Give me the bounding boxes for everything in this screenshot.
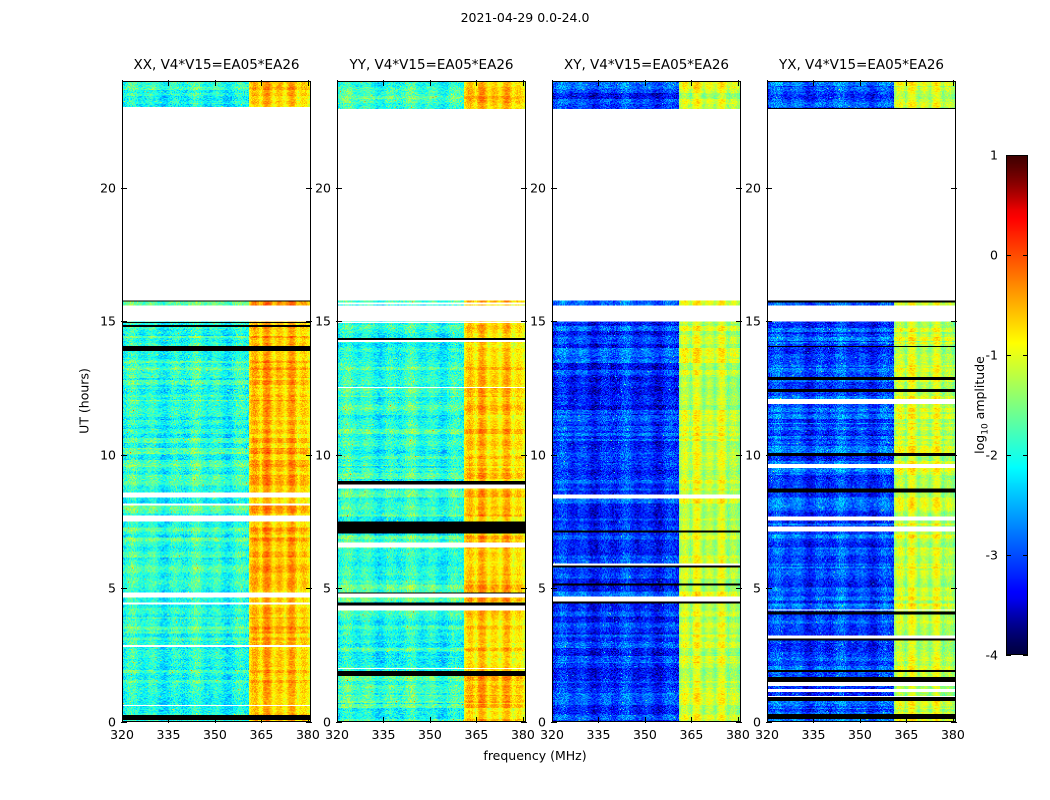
y-tick-mark: [551, 188, 557, 189]
colorbar-tick-label: 1: [990, 148, 998, 163]
x-tick-mark: [215, 717, 216, 723]
colorbar-tick-mark: [1006, 255, 1011, 256]
x-tick-mark-top: [598, 80, 599, 86]
colorbar-tick-mark-right: [1023, 555, 1028, 556]
plot-area-yx[interactable]: [767, 81, 956, 722]
x-tick-label: 365: [464, 727, 488, 742]
x-tick-mark: [738, 717, 739, 723]
x-tick-mark: [691, 717, 692, 723]
y-tick-mark-right: [306, 321, 312, 322]
x-tick-mark-top: [476, 80, 477, 86]
x-tick-label: 335: [372, 727, 396, 742]
x-tick-mark: [308, 717, 309, 723]
y-tick-mark-right: [306, 188, 312, 189]
y-tick-label: 10: [315, 447, 331, 462]
x-tick-label: 320: [755, 727, 779, 742]
x-tick-label: 380: [511, 727, 535, 742]
y-tick-label: 10: [745, 447, 761, 462]
x-tick-mark: [813, 717, 814, 723]
y-tick-mark: [336, 588, 342, 589]
y-tick-mark-right: [521, 188, 527, 189]
y-tick-mark: [766, 588, 772, 589]
panel-xy: XY, V4*V15=EA05*EA2605101520320335350365…: [552, 81, 741, 722]
colorbar-tick-mark: [1006, 555, 1011, 556]
y-tick-label: 15: [315, 314, 331, 329]
colorbar-tick-mark-right: [1023, 355, 1028, 356]
y-tick-mark-right: [736, 455, 742, 456]
y-tick-mark-right: [521, 588, 527, 589]
colorbar-label-tail: amplitude: [972, 356, 987, 423]
x-tick-mark-top: [906, 80, 907, 86]
x-tick-label: 320: [325, 727, 349, 742]
y-tick-mark: [121, 588, 127, 589]
x-tick-label: 365: [679, 727, 703, 742]
y-tick-mark-right: [736, 588, 742, 589]
y-tick-mark: [121, 455, 127, 456]
x-tick-label: 350: [848, 727, 872, 742]
x-tick-mark-top: [383, 80, 384, 86]
x-tick-label: 380: [296, 727, 320, 742]
y-tick-mark-right: [306, 455, 312, 456]
y-tick-label: 15: [530, 314, 546, 329]
x-tick-label: 380: [726, 727, 750, 742]
x-tick-mark-top: [337, 80, 338, 86]
heatmap-yy: [338, 82, 525, 721]
y-tick-mark-right: [951, 188, 957, 189]
x-tick-mark-top: [168, 80, 169, 86]
plot-area-xy[interactable]: [552, 81, 741, 722]
x-tick-mark: [122, 717, 123, 723]
y-tick-mark-right: [951, 321, 957, 322]
x-tick-label: 380: [941, 727, 965, 742]
y-tick-label: 15: [745, 314, 761, 329]
panel-title-yx: YX, V4*V15=EA05*EA26: [727, 57, 996, 73]
colorbar-tick-mark-right: [1023, 155, 1028, 156]
y-tick-mark: [551, 455, 557, 456]
x-tick-label: 320: [110, 727, 134, 742]
x-tick-mark: [598, 717, 599, 723]
y-tick-mark: [336, 188, 342, 189]
y-tick-label: 20: [315, 180, 331, 195]
x-tick-mark: [523, 717, 524, 723]
colorbar-tick-mark: [1006, 455, 1011, 456]
y-tick-mark-right: [306, 588, 312, 589]
colorbar-label-main: log: [972, 435, 987, 454]
x-tick-label: 335: [587, 727, 611, 742]
colorbar-label-sub: 10: [980, 423, 990, 434]
colorbar[interactable]: [1006, 155, 1028, 655]
x-tick-mark-top: [552, 80, 553, 86]
y-tick-mark: [336, 455, 342, 456]
y-axis-label: UT (hours): [77, 368, 92, 434]
y-tick-label: 20: [100, 180, 116, 195]
x-tick-label: 320: [540, 727, 564, 742]
y-tick-mark-right: [736, 722, 742, 723]
x-tick-mark: [430, 717, 431, 723]
x-tick-mark-top: [691, 80, 692, 86]
y-tick-mark-right: [951, 455, 957, 456]
y-tick-mark: [121, 188, 127, 189]
colorbar-label: log10 amplitude: [972, 356, 991, 454]
x-tick-mark: [383, 717, 384, 723]
y-tick-label: 10: [530, 447, 546, 462]
y-tick-label: 10: [100, 447, 116, 462]
y-tick-label: 20: [745, 180, 761, 195]
x-axis-label: frequency (MHz): [483, 748, 586, 763]
x-tick-mark-top: [261, 80, 262, 86]
y-tick-mark-right: [951, 588, 957, 589]
colorbar-tick-mark: [1006, 655, 1011, 656]
y-tick-mark-right: [951, 722, 957, 723]
colorbar-tick-mark: [1006, 355, 1011, 356]
panel-yy: YY, V4*V15=EA05*EA2605101520320335350365…: [337, 81, 526, 722]
colorbar-tick-mark-right: [1023, 455, 1028, 456]
y-tick-mark-right: [736, 321, 742, 322]
x-tick-mark: [860, 717, 861, 723]
y-tick-label: 15: [100, 314, 116, 329]
x-tick-label: 365: [894, 727, 918, 742]
x-tick-mark-top: [645, 80, 646, 86]
x-tick-mark: [953, 717, 954, 723]
x-tick-mark-top: [430, 80, 431, 86]
y-tick-label: 20: [530, 180, 546, 195]
y-tick-mark: [121, 321, 127, 322]
x-tick-mark-top: [738, 80, 739, 86]
x-tick-mark-top: [767, 80, 768, 86]
x-tick-mark-top: [215, 80, 216, 86]
figure-canvas: 2021-04-29 0.0-24.0 XX, V4*V15=EA05*EA26…: [0, 0, 1050, 800]
x-tick-label: 365: [249, 727, 273, 742]
x-tick-mark: [261, 717, 262, 723]
x-tick-mark: [168, 717, 169, 723]
x-tick-label: 350: [418, 727, 442, 742]
y-tick-label: 5: [108, 581, 116, 596]
x-tick-mark: [767, 717, 768, 723]
y-tick-label: 5: [538, 581, 546, 596]
plot-area-xx[interactable]: [122, 81, 311, 722]
x-tick-label: 350: [633, 727, 657, 742]
y-tick-mark: [766, 321, 772, 322]
y-tick-mark-right: [306, 722, 312, 723]
colorbar-tick-label: -4: [986, 648, 998, 663]
x-tick-label: 350: [203, 727, 227, 742]
colorbar-tick-mark-right: [1023, 655, 1028, 656]
y-tick-mark: [551, 588, 557, 589]
heatmap-yx: [768, 82, 955, 721]
y-tick-label: 5: [323, 581, 331, 596]
y-tick-mark: [551, 321, 557, 322]
x-tick-mark: [337, 717, 338, 723]
x-tick-mark-top: [308, 80, 309, 86]
x-tick-label: 335: [802, 727, 826, 742]
y-tick-label: 5: [753, 581, 761, 596]
y-tick-mark: [336, 321, 342, 322]
heatmap-xx: [123, 82, 310, 721]
y-tick-mark-right: [521, 722, 527, 723]
x-tick-mark-top: [122, 80, 123, 86]
colorbar-tick-mark-right: [1023, 255, 1028, 256]
panel-yx: YX, V4*V15=EA05*EA2605101520320335350365…: [767, 81, 956, 722]
y-tick-mark: [766, 455, 772, 456]
x-tick-mark-top: [523, 80, 524, 86]
x-tick-mark: [645, 717, 646, 723]
colorbar-tick-label: -3: [986, 548, 998, 563]
colorbar-tick-label: 0: [990, 248, 998, 263]
x-tick-mark: [552, 717, 553, 723]
heatmap-xy: [553, 82, 740, 721]
x-tick-mark-top: [860, 80, 861, 86]
x-tick-mark-top: [813, 80, 814, 86]
x-tick-mark: [476, 717, 477, 723]
colorbar-tick-mark: [1006, 155, 1011, 156]
y-tick-mark-right: [521, 321, 527, 322]
y-tick-mark-right: [736, 188, 742, 189]
x-tick-label: 335: [157, 727, 181, 742]
y-tick-mark: [766, 188, 772, 189]
x-tick-mark: [906, 717, 907, 723]
plot-area-yy[interactable]: [337, 81, 526, 722]
x-tick-mark-top: [953, 80, 954, 86]
panel-xx: XX, V4*V15=EA05*EA2605101520320335350365…: [122, 81, 311, 722]
y-tick-mark-right: [521, 455, 527, 456]
figure-suptitle: 2021-04-29 0.0-24.0: [0, 10, 1050, 25]
